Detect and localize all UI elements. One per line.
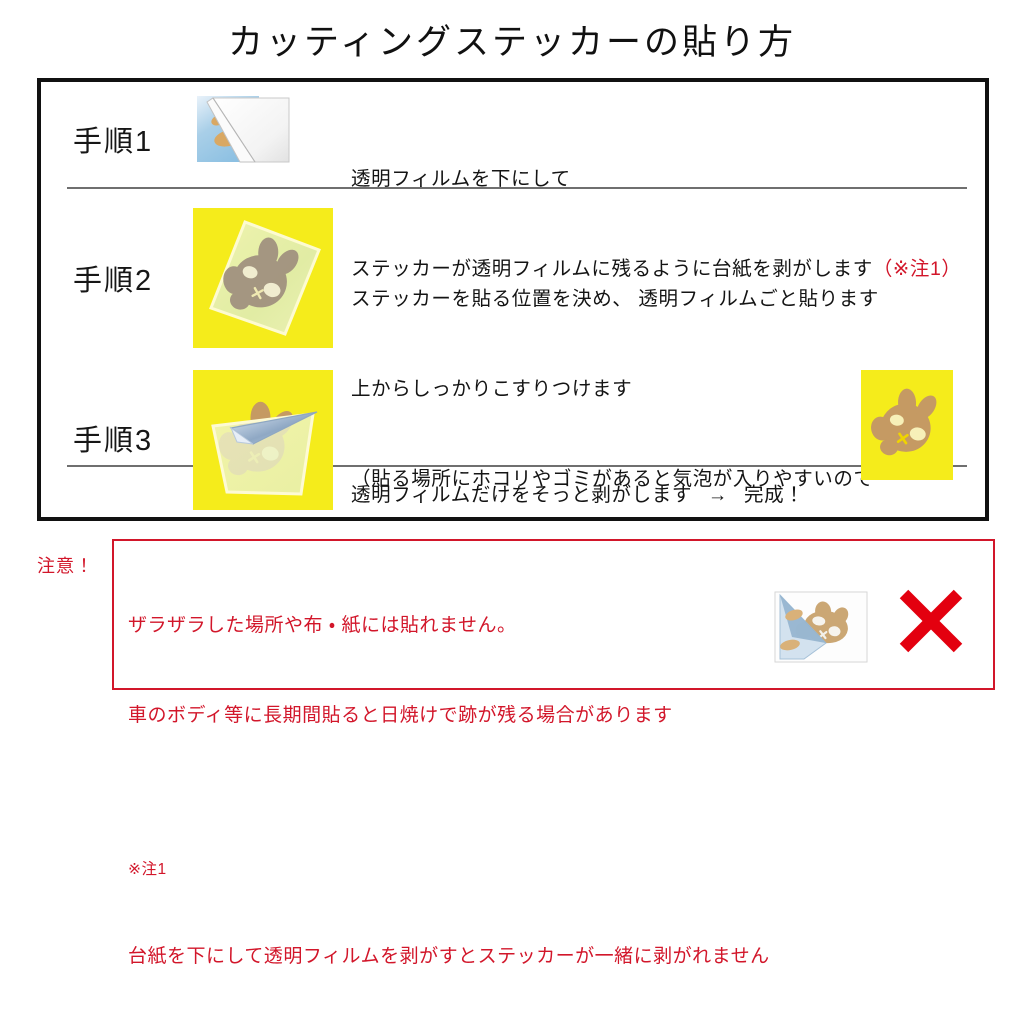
- step-row-3: 手順3: [41, 360, 985, 521]
- warning-text: ザラザラした場所や布 ・ 紙には貼れません。 車のボディ等に長期間貼ると日焼けで…: [128, 551, 770, 1032]
- warning-line-1: ザラザラした場所や布 ・ 紙には貼れません。: [128, 611, 770, 641]
- page-title: カッティングステッカーの貼り方: [0, 14, 1024, 65]
- finished-sticker-illustration: [861, 370, 953, 480]
- step-3-text-row: 透明フィルムだけをそっと剥がします→完成！: [351, 480, 804, 510]
- step-3-result-figure: [861, 370, 953, 485]
- step-3-text-line1: 透明フィルムだけをそっと剥がします: [351, 484, 692, 506]
- warning-line-2: 車のボディ等に長期間貼ると日焼けで跡が残る場合があります: [128, 701, 770, 731]
- step-row-1: 手順1: [41, 82, 985, 195]
- peel-backing-illustration: [193, 90, 303, 182]
- warning-box: ザラザラした場所や布 ・ 紙には貼れません。 車のボディ等に長期間貼ると日焼けで…: [112, 539, 995, 690]
- step-3-label: 手順3: [73, 417, 153, 459]
- warning-cross: [895, 585, 967, 662]
- step-2-label: 手順2: [73, 257, 153, 299]
- red-cross-mark: [895, 585, 967, 657]
- apply-sticker-with-film-illustration: [193, 208, 333, 348]
- warning-note-title: ※注1: [128, 858, 770, 882]
- peel-transfer-film-illustration: [193, 370, 333, 510]
- warning-note-body: 台紙を下にして透明フィルムを剥がすとステッカーが一緒に剥がれません: [128, 942, 770, 972]
- warning-figure: [774, 591, 868, 668]
- warning-label: 注意！: [37, 552, 94, 578]
- step-3-arrow: →: [708, 484, 728, 506]
- wrong-peel-illustration: [774, 591, 868, 663]
- row-separator-1: [67, 187, 967, 189]
- step-row-2: 手順2: [41, 195, 985, 360]
- step-1-text-line1: 透明フィルムを下にして: [351, 164, 962, 194]
- step-3-done-label: 完成！: [744, 484, 804, 506]
- step-2-text-line1: ステッカーを貼る位置を決め、 透明フィルムごと貼ります: [351, 284, 879, 314]
- steps-panel: 手順1: [37, 78, 989, 521]
- step-1-label: 手順1: [73, 118, 153, 160]
- warning-spacer: [128, 791, 770, 798]
